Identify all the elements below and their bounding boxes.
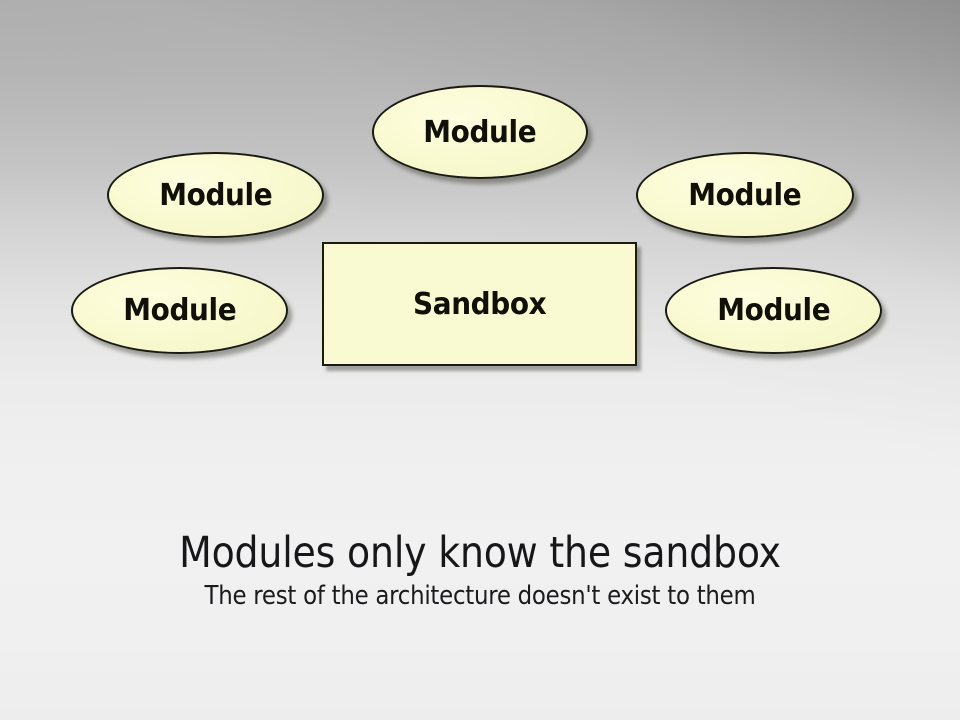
module-node-lower-left-label: Module (123, 293, 236, 328)
module-node-lower-right[interactable]: Module (665, 267, 882, 354)
sandbox-node-label: Sandbox (413, 287, 546, 322)
module-node-lower-left[interactable]: Module (71, 267, 288, 354)
caption-block: Modules only know the sandbox The rest o… (0, 528, 960, 612)
caption-subline: The rest of the architecture doesn't exi… (58, 580, 903, 612)
sandbox-node[interactable]: Sandbox (322, 242, 637, 366)
slide-canvas: Module Module Module Module Module Sandb… (0, 0, 960, 720)
module-node-upper-left[interactable]: Module (107, 152, 324, 238)
module-node-upper-right-label: Module (688, 178, 801, 213)
module-node-lower-right-label: Module (717, 293, 830, 328)
caption-headline: Modules only know the sandbox (58, 528, 903, 578)
module-node-upper-left-label: Module (159, 178, 272, 213)
module-node-upper-right[interactable]: Module (636, 152, 854, 238)
module-node-top-label: Module (423, 115, 536, 150)
module-node-top[interactable]: Module (372, 85, 588, 179)
